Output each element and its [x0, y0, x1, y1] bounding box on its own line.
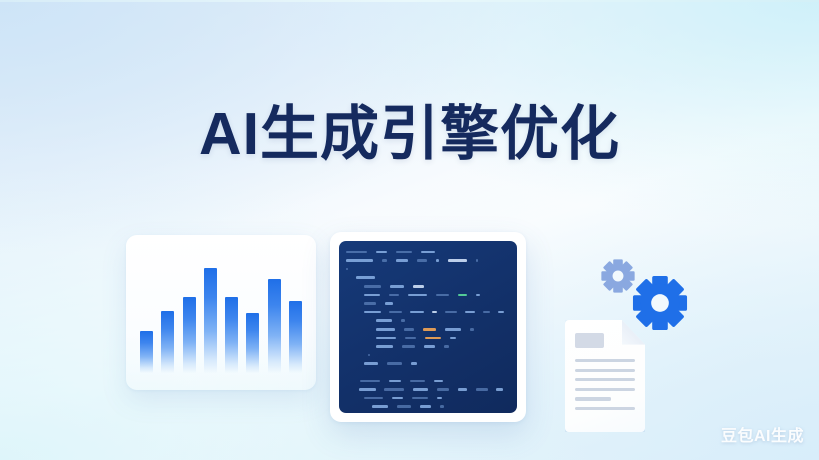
gear-large [633, 276, 687, 330]
gear-icons-layer [0, 0, 819, 460]
poster-canvas: AI生成引擎优化 豆包AI生成 [0, 0, 819, 460]
gear-hole [613, 271, 624, 282]
gear-small [601, 259, 634, 292]
watermark: 豆包AI生成 [721, 422, 804, 446]
gear-hole [651, 294, 669, 312]
